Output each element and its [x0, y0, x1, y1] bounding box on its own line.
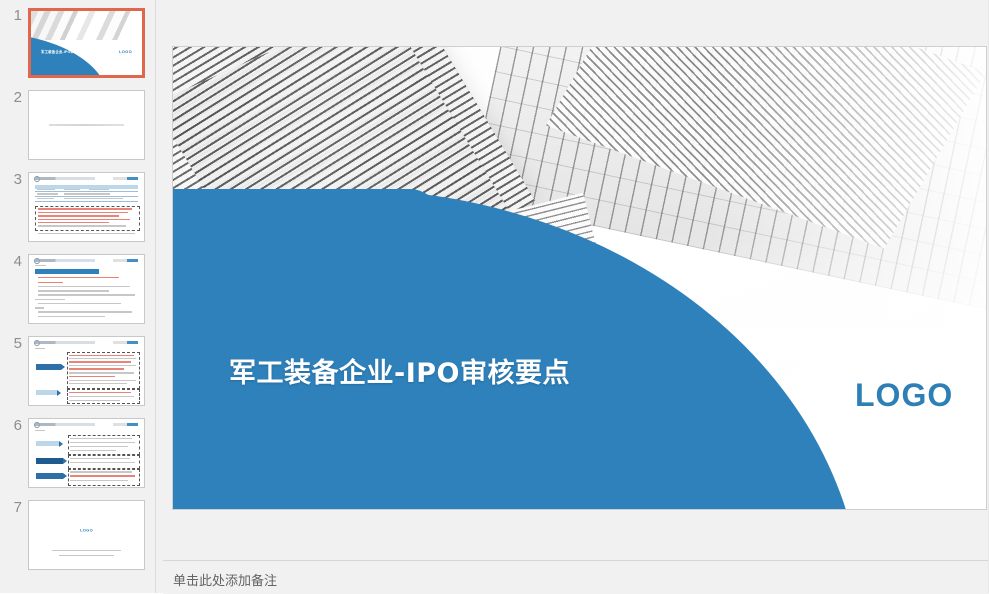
slide-number-3: 3 — [0, 172, 28, 188]
mini-header-right — [113, 259, 138, 262]
mini-red-text — [69, 361, 131, 362]
mini-section-bar — [35, 269, 99, 274]
mini-slide-logo: LOGO — [119, 49, 132, 54]
mini-red-text — [69, 376, 115, 377]
mini-table-cell — [37, 198, 54, 199]
mini-gray-text — [38, 286, 130, 287]
slide-thumbnail-scroll[interactable]: 1 军工装备企业-IPO审核要点 LOGO 2 — [0, 0, 155, 593]
mini-red-text — [38, 208, 132, 209]
mini-gray-text — [59, 555, 114, 556]
mini-arrow-label — [36, 473, 64, 479]
mini-gray-text — [35, 307, 44, 308]
mini-gray-text — [69, 372, 133, 373]
slide-thumbnail-2-box[interactable] — [28, 90, 145, 160]
mini-gray-text — [38, 233, 135, 234]
mini-red-text — [38, 215, 119, 216]
mini-header-bar — [35, 259, 95, 262]
slide-thumbnail-2[interactable]: 2 — [0, 90, 155, 172]
mini-gray-text — [69, 380, 136, 381]
mini-table-cell — [37, 189, 55, 190]
mini-slide-5 — [29, 337, 144, 405]
notes-placeholder[interactable]: 单击此处添加备注 — [173, 570, 277, 589]
mini-red-text — [69, 368, 124, 369]
mini-header-right — [113, 341, 138, 344]
mini-arrow-label — [36, 458, 64, 464]
mini-gray-text — [70, 446, 128, 447]
mini-header-bar — [35, 423, 95, 426]
mini-red-text — [38, 219, 130, 220]
mini-table-cell — [37, 193, 58, 194]
mini-slide-6 — [29, 419, 144, 487]
slide-number-7: 7 — [0, 500, 28, 516]
mini-gray-text — [70, 458, 130, 459]
mini-gray-text — [69, 383, 127, 384]
current-slide-canvas[interactable]: 军工装备企业-IPO审核要点 LOGO — [172, 46, 987, 510]
mini-gray-text — [38, 294, 135, 295]
mini-table-cell — [64, 193, 110, 194]
mini-table-line — [35, 196, 139, 197]
slide-thumbnail-1[interactable]: 1 军工装备企业-IPO审核要点 LOGO — [0, 8, 155, 90]
slide-number-1: 1 — [0, 8, 28, 24]
mini-header-right — [113, 423, 138, 426]
slide-thumbnail-5-box[interactable] — [28, 336, 145, 406]
powerpoint-editor-window: 1 军工装备企业-IPO审核要点 LOGO 2 — [0, 0, 989, 593]
mini-red-text — [38, 277, 119, 278]
slide-thumbnail-6-box[interactable] — [28, 418, 145, 488]
mini-header-right — [113, 177, 138, 180]
mini-gray-text — [69, 365, 136, 366]
mini-gray-text — [38, 225, 125, 226]
mini-slide-logo: LOGO — [80, 528, 93, 533]
mini-gray-text — [70, 442, 134, 443]
slide-thumbnail-4[interactable]: 4 — [0, 254, 155, 336]
mini-gray-text — [38, 311, 132, 312]
slide-thumbnail-7[interactable]: 7 LOGO — [0, 500, 155, 582]
slide-thumbnail-5[interactable]: 5 — [0, 336, 155, 418]
mini-slide-title: 军工装备企业-IPO审核要点 — [41, 49, 85, 54]
mini-red-text — [70, 475, 134, 476]
slide-number-6: 6 — [0, 418, 28, 434]
slide-thumbnail-3[interactable]: 3 — [0, 172, 155, 254]
mini-gray-text — [69, 400, 120, 401]
mini-arrow-label — [36, 364, 61, 370]
mini-gray-text — [69, 358, 136, 359]
mini-arrow-label — [36, 441, 59, 446]
mini-red-text — [69, 392, 131, 393]
mini-gray-text — [38, 316, 105, 317]
slide-number-5: 5 — [0, 336, 28, 352]
mini-table-cell — [64, 189, 80, 190]
mini-gray-text — [38, 290, 109, 291]
slide-number-4: 4 — [0, 254, 28, 270]
mini-slide-7: LOGO — [29, 501, 144, 569]
slide-thumbnail-panel[interactable]: 1 军工装备企业-IPO审核要点 LOGO 2 — [0, 0, 155, 593]
slide-thumbnail-7-box[interactable]: LOGO — [28, 500, 145, 570]
mini-subtitle — [35, 348, 45, 349]
mini-red-text — [38, 222, 109, 223]
slide-thumbnail-3-box[interactable] — [28, 172, 145, 242]
mini-gray-text — [69, 396, 133, 397]
notes-pane[interactable]: 单击此处添加备注 — [163, 560, 989, 594]
mini-photo — [31, 11, 142, 40]
mini-table-cell — [89, 189, 110, 190]
mini-text-line — [49, 124, 125, 126]
mini-gray-text — [70, 462, 134, 463]
mini-gray-text — [38, 303, 121, 304]
mini-slide-2 — [29, 91, 144, 159]
mini-table-line — [35, 201, 139, 202]
mini-red-text — [38, 212, 128, 213]
mini-gray-text — [70, 480, 128, 481]
mini-slide-3 — [29, 173, 144, 241]
slide-thumbnail-4-box[interactable] — [28, 254, 145, 324]
mini-header-bar — [35, 341, 95, 344]
mini-slide-1: 军工装备企业-IPO审核要点 LOGO — [31, 11, 142, 75]
mini-table-cell — [64, 198, 124, 199]
mini-header-bar — [35, 177, 95, 180]
mini-gray-text — [35, 299, 65, 300]
mini-gray-text — [70, 471, 132, 472]
slide-thumbnail-6[interactable]: 6 — [0, 418, 155, 500]
mini-subtitle — [35, 265, 47, 266]
slide-thumbnail-1-box[interactable]: 军工装备企业-IPO审核要点 LOGO — [28, 8, 145, 78]
mini-red-text — [69, 355, 133, 356]
mini-arrow-label — [36, 390, 57, 395]
slide-logo-text[interactable]: LOGO — [855, 377, 953, 414]
mini-slide-4 — [29, 255, 144, 323]
slide-number-2: 2 — [0, 90, 28, 106]
mini-table-line — [35, 191, 139, 192]
mini-gray-text — [70, 450, 116, 451]
mini-red-text — [38, 282, 63, 283]
slide-editing-stage[interactable]: 军工装备企业-IPO审核要点 LOGO — [163, 0, 989, 560]
mini-divider — [52, 550, 121, 551]
mini-subtitle — [35, 430, 45, 431]
mini-gray-text — [70, 438, 132, 439]
slide-title-text[interactable]: 军工装备企业-IPO审核要点 — [229, 351, 570, 390]
